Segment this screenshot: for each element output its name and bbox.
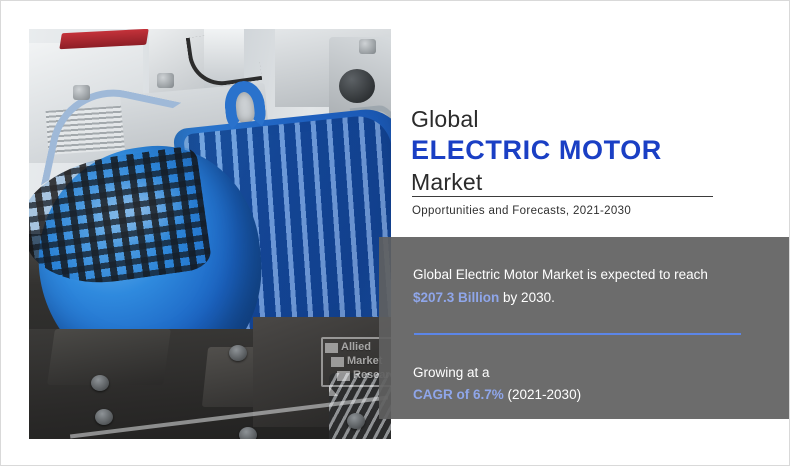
watermark-line-2: Market — [331, 356, 382, 367]
bolt-icon — [347, 413, 365, 429]
stats-panel: Global Electric Motor Market is expected… — [379, 237, 790, 419]
bolt-icon — [91, 375, 109, 391]
growth-label: Growing at a — [413, 362, 581, 384]
market-size-prefix: Global Electric Motor Market is expected… — [413, 267, 708, 282]
market-size-value: $207.3 Billion — [413, 290, 499, 305]
bolt-icon — [239, 427, 257, 439]
bolt-icon — [229, 345, 247, 361]
watermark-bubble-tail — [329, 386, 338, 396]
infographic-card: Allied Market Research Global ELECTRIC M… — [0, 0, 790, 466]
title-line-global: Global — [411, 105, 751, 133]
watermark-square-icon — [331, 357, 344, 367]
watermark-line-1: Allied — [325, 342, 371, 353]
watermark-text: Market — [347, 356, 382, 367]
growth-statement: Growing at a CAGR of 6.7% (2021-2030) — [413, 362, 581, 406]
market-size-statement: Global Electric Motor Market is expected… — [413, 263, 758, 309]
cagr-period: (2021-2030) — [504, 387, 581, 402]
bolt-icon — [359, 39, 376, 54]
watermark-square-icon — [325, 343, 338, 353]
title-line-market-name: ELECTRIC MOTOR — [411, 134, 751, 167]
bolt-icon — [157, 73, 174, 88]
title-divider — [412, 196, 713, 197]
bolt-icon — [73, 85, 90, 100]
cagr-value: CAGR of 6.7% — [413, 387, 504, 402]
watermark-square-icon — [337, 371, 350, 381]
report-subtitle: Opportunities and Forecasts, 2021-2030 — [412, 205, 631, 217]
motor-shaft-cap — [339, 69, 375, 103]
bolt-icon — [95, 409, 113, 425]
mounting-foot — [47, 329, 171, 385]
panel-divider — [414, 333, 741, 335]
watermark-text: Allied — [341, 342, 371, 353]
growth-value-row: CAGR of 6.7% (2021-2030) — [413, 384, 581, 406]
page-title: Global ELECTRIC MOTOR Market — [411, 105, 751, 197]
market-size-suffix: by 2030. — [499, 290, 555, 305]
title-line-market: Market — [411, 168, 751, 197]
electric-motor-photo: Allied Market Research — [29, 29, 391, 439]
